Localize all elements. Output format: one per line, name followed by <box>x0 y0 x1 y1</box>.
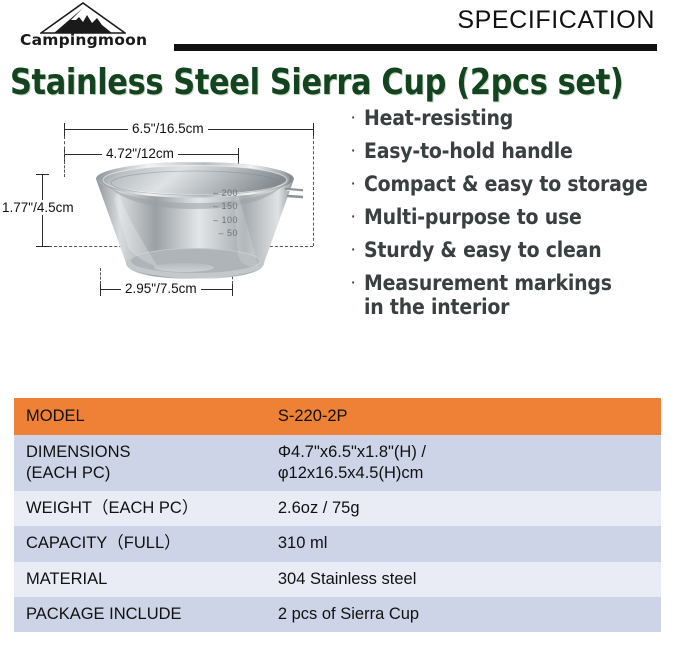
specification-heading: SPECIFICATION <box>457 8 655 33</box>
mark-100: – 100 <box>192 214 238 228</box>
spec-label: CAPACITY（FULL） <box>26 534 181 552</box>
spec-label: DIMENSIONS (EACH PC) <box>26 443 131 482</box>
header-divider <box>174 44 657 51</box>
page-header: Campingmoon SPECIFICATION <box>0 0 679 62</box>
mountain-icon <box>40 2 126 34</box>
dim-tick-height-bottom <box>36 246 49 247</box>
bullet-dot-icon: · <box>350 139 364 162</box>
feature-label: Easy-to-hold handle <box>364 139 573 163</box>
feature-label: Multi-purpose to use <box>364 205 582 229</box>
dim-tick-top-right <box>313 123 314 136</box>
mark-50: – 50 <box>192 227 238 241</box>
mark-150: – 150 <box>192 200 238 214</box>
page-title: Stainless Steel Sierra Cup (2pcs set) <box>10 64 639 102</box>
spec-value: 2.6oz / 75g <box>278 499 360 517</box>
mark-200: – 200 <box>192 187 238 201</box>
table-row: MATERIAL 304 Stainless steel <box>14 562 661 597</box>
dim-tick-height-top <box>36 174 49 175</box>
feature-label: Heat-resisting <box>364 106 513 130</box>
spec-value: 304 Stainless steel <box>278 570 417 588</box>
table-row: PACKAGE INCLUDE 2 pcs of Sierra Cup <box>14 597 661 632</box>
dim-guide-left-outer <box>64 136 65 160</box>
spec-value: 2 pcs of Sierra Cup <box>278 605 419 623</box>
brand-logo: Campingmoon <box>20 2 145 49</box>
list-item: · Compact & easy to storage <box>350 172 679 196</box>
spec-label: WEIGHT（EACH PC） <box>26 499 198 517</box>
list-item: · Easy-to-hold handle <box>350 139 679 163</box>
spec-value: 310 ml <box>278 534 328 552</box>
list-item: · Sturdy & easy to clean <box>350 238 679 262</box>
mark-100-label: 100 <box>221 215 238 225</box>
spec-value: Φ4.7"x6.5"x1.8"(H) / φ12x16.5x4.5(H)cm <box>278 443 426 482</box>
list-item: · Heat-resisting <box>350 106 679 130</box>
dim-tick-top-left <box>64 123 65 136</box>
spec-label: MODEL <box>26 407 85 425</box>
spec-value: S-220-2P <box>278 407 348 425</box>
table-row: WEIGHT（EACH PC） 2.6oz / 75g <box>14 491 661 526</box>
list-item: · Multi-purpose to use <box>350 205 679 229</box>
dim-label-height: 1.77"/4.5cm <box>0 200 78 215</box>
dim-label-top-width: 6.5"/16.5cm <box>128 121 208 136</box>
feature-label: Compact & easy to storage <box>364 172 648 196</box>
bullet-dot-icon: · <box>350 238 364 261</box>
sierra-cup-photo: – 200 – 150 – 100 – 50 <box>88 159 303 289</box>
mark-50-label: 50 <box>227 228 238 238</box>
dim-guide-right-outer <box>313 136 314 246</box>
specification-heading-wrap: SPECIFICATION <box>457 8 655 33</box>
table-row: DIMENSIONS (EACH PC) Φ4.7"x6.5"x1.8"(H) … <box>14 435 661 491</box>
specification-table: MODEL S-220-2P DIMENSIONS (EACH PC) Φ4.7… <box>14 398 661 632</box>
bullet-dot-icon: · <box>350 172 364 195</box>
table-row: MODEL S-220-2P <box>14 398 661 435</box>
mark-150-label: 150 <box>221 201 238 211</box>
bullet-dot-icon: · <box>350 106 364 129</box>
bullet-dot-icon: · <box>350 205 364 228</box>
feature-list: · Heat-resisting · Easy-to-hold handle ·… <box>350 106 679 328</box>
cup-brand-stamp <box>154 263 214 272</box>
bullet-dot-icon: · <box>350 271 364 294</box>
spec-label: PACKAGE INCLUDE <box>26 605 182 623</box>
table-row: CAPACITY（FULL） 310 ml <box>14 526 661 561</box>
feature-label: Sturdy & easy to clean <box>364 238 601 262</box>
brand-name: Campingmoon <box>20 33 145 49</box>
feature-label: Measurement markings in the interior <box>364 271 612 319</box>
list-item: · Measurement markings in the interior <box>350 271 679 319</box>
content-area: 6.5"/16.5cm 4.72"/12cm 1.77"/4.5cm 2.95"… <box>0 102 679 374</box>
mark-200-label: 200 <box>221 188 238 198</box>
interior-measurement-markings: – 200 – 150 – 100 – 50 <box>192 187 238 241</box>
product-illustration: 6.5"/16.5cm 4.72"/12cm 1.77"/4.5cm 2.95"… <box>0 102 345 374</box>
dim-guide-inner-left <box>64 161 65 177</box>
spec-label: MATERIAL <box>26 570 107 588</box>
